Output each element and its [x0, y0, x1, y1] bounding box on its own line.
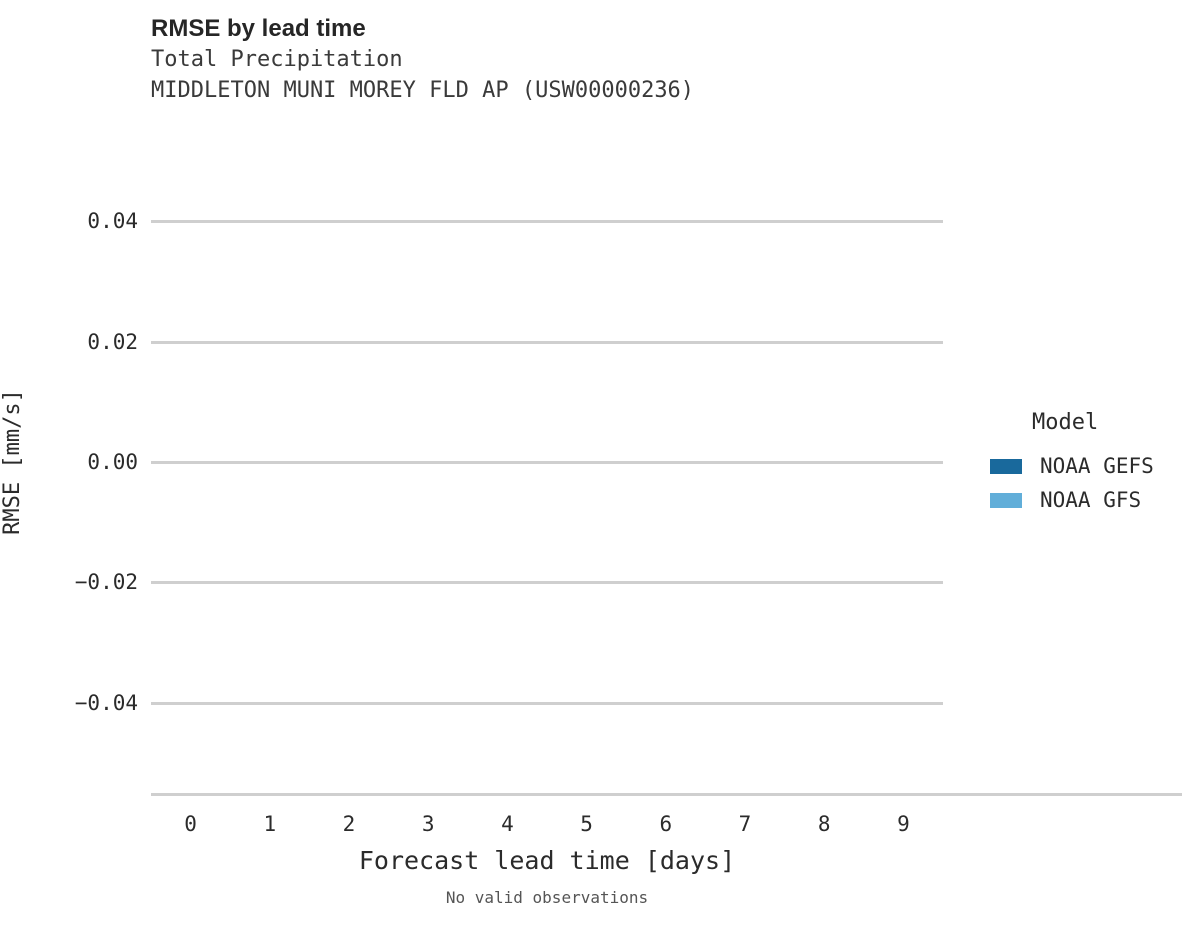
- x-axis-tick-label: 7: [715, 812, 775, 836]
- y-axis-tick-label: −0.02: [75, 570, 138, 594]
- x-axis-tick-label: 0: [161, 812, 221, 836]
- legend: Model NOAA GEFSNOAA GFS: [990, 410, 1182, 517]
- x-axis-tick-label: 9: [873, 812, 933, 836]
- gridline: [151, 461, 943, 464]
- gridline: [151, 702, 943, 705]
- chart-subtitle-station: MIDDLETON MUNI MOREY FLD AP (USW00000236…: [151, 75, 951, 106]
- chart-header: RMSE by lead time Total Precipitation MI…: [151, 14, 951, 106]
- legend-item[interactable]: NOAA GFS: [990, 483, 1182, 517]
- legend-title: Model: [1032, 410, 1182, 435]
- legend-item-label: NOAA GFS: [1040, 488, 1141, 512]
- legend-item-label: NOAA GEFS: [1040, 454, 1154, 478]
- gridline: [151, 581, 943, 584]
- y-axis-tick-label: 0.00: [87, 450, 138, 474]
- legend-item[interactable]: NOAA GEFS: [990, 449, 1182, 483]
- x-axis-tick-label: 6: [636, 812, 696, 836]
- chart-figure: RMSE by lead time Total Precipitation MI…: [0, 0, 1182, 928]
- y-axis-title: RMSE [mm/s]: [0, 389, 25, 535]
- legend-entries: NOAA GEFSNOAA GFS: [990, 449, 1182, 517]
- x-axis-tick-label: 2: [319, 812, 379, 836]
- x-axis-tick-label: 8: [794, 812, 854, 836]
- x-axis-spine: [151, 793, 1182, 796]
- y-axis-tick-label: 0.04: [87, 209, 138, 233]
- chart-subtitle-variable: Total Precipitation: [151, 44, 951, 75]
- x-axis-tick-label: 3: [398, 812, 458, 836]
- legend-swatch-icon: [990, 493, 1022, 508]
- x-axis-tick-label: 4: [477, 812, 537, 836]
- x-axis-tick-label: 1: [240, 812, 300, 836]
- no-data-annotation: No valid observations: [151, 888, 943, 907]
- gridline: [151, 341, 943, 344]
- gridline: [151, 220, 943, 223]
- page-title: RMSE by lead time: [151, 14, 951, 44]
- y-axis-tick-label: −0.04: [75, 691, 138, 715]
- x-axis-tick-label: 5: [557, 812, 617, 836]
- x-axis-title: Forecast lead time [days]: [151, 846, 943, 875]
- legend-swatch-icon: [990, 459, 1022, 474]
- y-axis-tick-label: 0.02: [87, 330, 138, 354]
